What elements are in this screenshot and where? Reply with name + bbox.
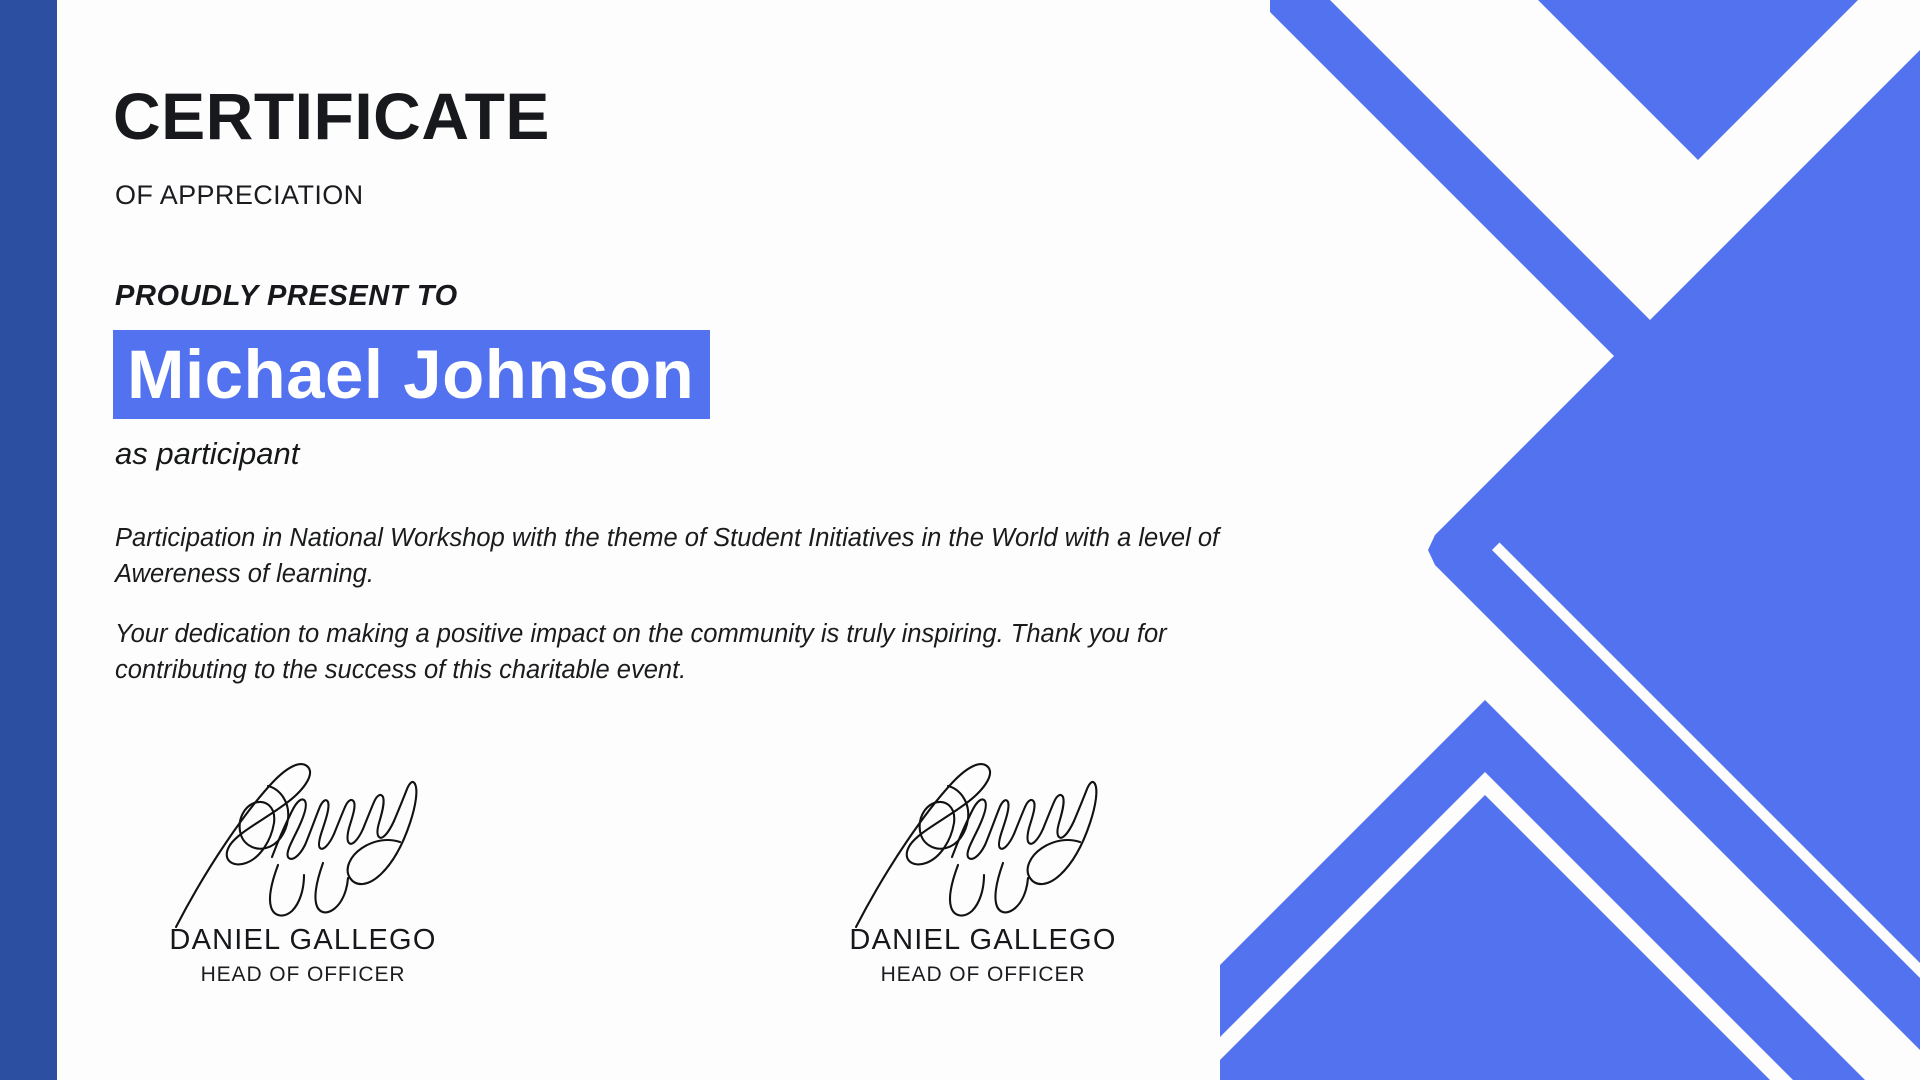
handwritten-signature-icon bbox=[113, 740, 493, 930]
signatory-name: DANIEL GALLEGO bbox=[793, 924, 1173, 957]
handwritten-signature-icon bbox=[793, 740, 1173, 930]
top-filled-chevron-icon bbox=[1338, 0, 1920, 160]
present-to-label: PROUDLY PRESENT TO bbox=[115, 280, 458, 313]
body-paragraph-2: Your dedication to making a positive imp… bbox=[115, 616, 1300, 688]
signature-area: DANIEL GALLEGO HEAD OF OFFICER bbox=[113, 740, 1293, 1030]
signatory-title: HEAD OF OFFICER bbox=[793, 963, 1173, 987]
body-paragraph-1: Participation in National Workshop with … bbox=[115, 520, 1300, 592]
right-solid-blue-mass bbox=[1492, 107, 1920, 963]
recipient-name: Michael Johnson bbox=[127, 340, 694, 409]
signatory-name: DANIEL GALLEGO bbox=[113, 924, 493, 957]
signature-block-2: DANIEL GALLEGO HEAD OF OFFICER bbox=[793, 740, 1173, 987]
signature-block-1: DANIEL GALLEGO HEAD OF OFFICER bbox=[113, 740, 493, 987]
signatory-title: HEAD OF OFFICER bbox=[113, 963, 493, 987]
recipient-name-highlight: Michael Johnson bbox=[113, 330, 710, 419]
certificate-subtitle: OF APPRECIATION bbox=[115, 180, 364, 211]
certificate-document: CERTIFICATE OF APPRECIATION PROUDLY PRES… bbox=[0, 0, 1920, 1080]
left-pointing-chevron-icon bbox=[1428, 50, 1920, 1050]
certificate-content: CERTIFICATE OF APPRECIATION PROUDLY PRES… bbox=[113, 0, 1373, 1080]
certificate-title: CERTIFICATE bbox=[113, 83, 550, 149]
left-accent-bar bbox=[0, 0, 57, 1080]
recipient-role: as participant bbox=[115, 436, 299, 472]
